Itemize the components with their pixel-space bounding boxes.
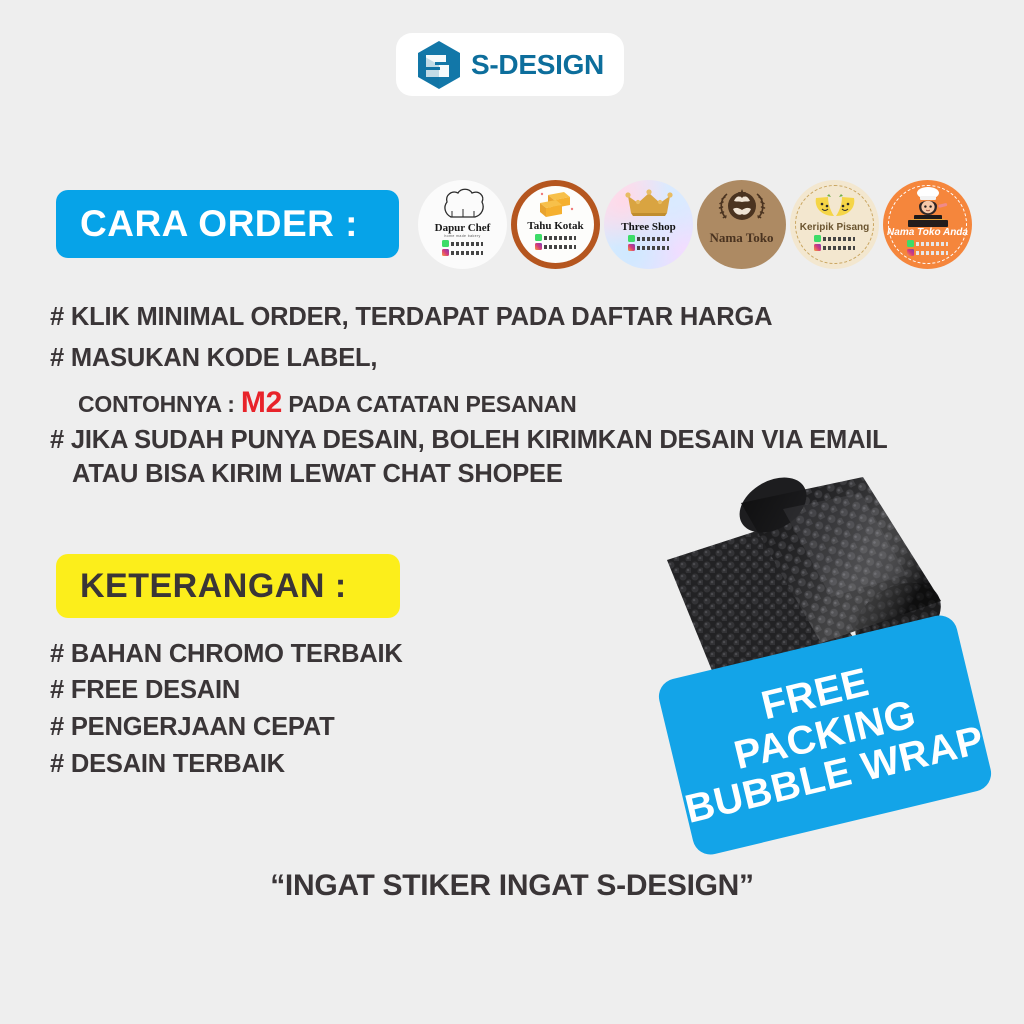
keterangan-item-4: # DESAIN TERBAIK <box>50 750 285 779</box>
whatsapp-icon <box>535 234 542 241</box>
sticker-name-plate <box>908 220 948 227</box>
sticker-name-label: Nama Toko Anda <box>887 228 968 238</box>
instagram-icon <box>628 244 635 251</box>
contact-text-placeholder <box>544 245 576 249</box>
whatsapp-icon <box>907 240 914 247</box>
sticker-samples-strip: Dapur Chef home made bakery Tahu Kotak <box>418 180 978 272</box>
section-heading-cara-order: CARA ORDER : <box>56 190 399 258</box>
sticker-sample-dapur-chef[interactable]: Dapur Chef home made bakery <box>418 180 507 269</box>
sticker-sample-nama-toko-anda[interactable]: Nama Toko Anda <box>883 180 972 269</box>
sticker-name-label: Three Shop <box>621 221 676 233</box>
sticker-contact-block <box>442 240 483 256</box>
sticker-sample-three-shop[interactable]: Three Shop <box>604 180 693 269</box>
sticker-contact-block <box>814 235 855 251</box>
sticker-name-label: Keripik Pisang <box>800 222 869 233</box>
brand-logo-pill: S-DESIGN <box>396 33 624 96</box>
cake-squares-icon <box>534 189 578 221</box>
order-step-line-5: ATAU BISA KIRIM LEWAT CHAT SHOPEE <box>72 460 563 489</box>
contact-text-placeholder <box>916 251 948 255</box>
section-heading-keterangan: KETERANGAN : <box>56 554 400 618</box>
contact-text-placeholder <box>451 242 483 246</box>
keterangan-item-2: # FREE DESAIN <box>50 676 240 705</box>
footer-tagline: “INGAT STIKER INGAT S-DESIGN” <box>0 869 1024 903</box>
sticker-name-label: Tahu Kotak <box>527 220 583 232</box>
sticker-contact-block <box>907 240 948 256</box>
brand-logo-text: S-DESIGN <box>471 49 604 81</box>
instagram-icon <box>814 244 821 251</box>
label-code-value: M2 <box>241 386 282 419</box>
gold-crown-icon <box>624 189 674 221</box>
order-step-line-3: CONTOHNYA : M2 PADA CATATAN PESANAN <box>78 386 577 420</box>
whatsapp-icon <box>628 235 635 242</box>
banana-icon <box>810 190 860 222</box>
order-step-line-2: # MASUKAN KODE LABEL, <box>50 344 377 373</box>
instagram-icon <box>907 249 914 256</box>
whatsapp-icon <box>442 240 449 247</box>
order-step-line-1: # KLIK MINIMAL ORDER, TERDAPAT PADA DAFT… <box>50 303 772 332</box>
instagram-icon <box>535 243 542 250</box>
keterangan-item-1: # BAHAN CHROMO TERBAIK <box>50 640 403 669</box>
order-step-line-4: # JIKA SUDAH PUNYA DESAIN, BOLEH KIRIMKA… <box>50 426 888 455</box>
contact-text-placeholder <box>637 237 669 241</box>
sticker-subtitle-label: home made bakery <box>444 234 480 238</box>
sticker-name-label: Nama Toko <box>710 230 774 246</box>
s-design-hexagon-logo-icon <box>416 40 462 90</box>
sticker-contact-block <box>535 234 576 250</box>
contact-text-placeholder <box>451 251 483 255</box>
contoh-prefix-label: CONTOHNYA : <box>78 391 241 417</box>
mustache-wreath-icon <box>714 185 770 229</box>
contact-text-placeholder <box>916 242 948 246</box>
sticker-sample-nama-toko[interactable]: Nama Toko <box>697 180 786 269</box>
chef-girl-icon <box>905 186 951 222</box>
contact-text-placeholder <box>823 246 855 250</box>
contact-text-placeholder <box>823 237 855 241</box>
sticker-contact-block <box>628 235 669 251</box>
whatsapp-icon <box>814 235 821 242</box>
contoh-suffix-label: PADA CATATAN PESANAN <box>282 391 576 417</box>
contact-text-placeholder <box>637 246 669 250</box>
chef-hat-icon <box>439 187 487 221</box>
contact-text-placeholder <box>544 236 576 240</box>
sticker-sample-keripik-pisang[interactable]: Keripik Pisang <box>790 180 879 269</box>
sticker-sample-tahu-kotak[interactable]: Tahu Kotak <box>511 180 600 269</box>
instagram-icon <box>442 249 449 256</box>
sticker-name-label: Dapur Chef <box>435 222 491 234</box>
keterangan-item-3: # PENGERJAAN CEPAT <box>50 713 335 742</box>
